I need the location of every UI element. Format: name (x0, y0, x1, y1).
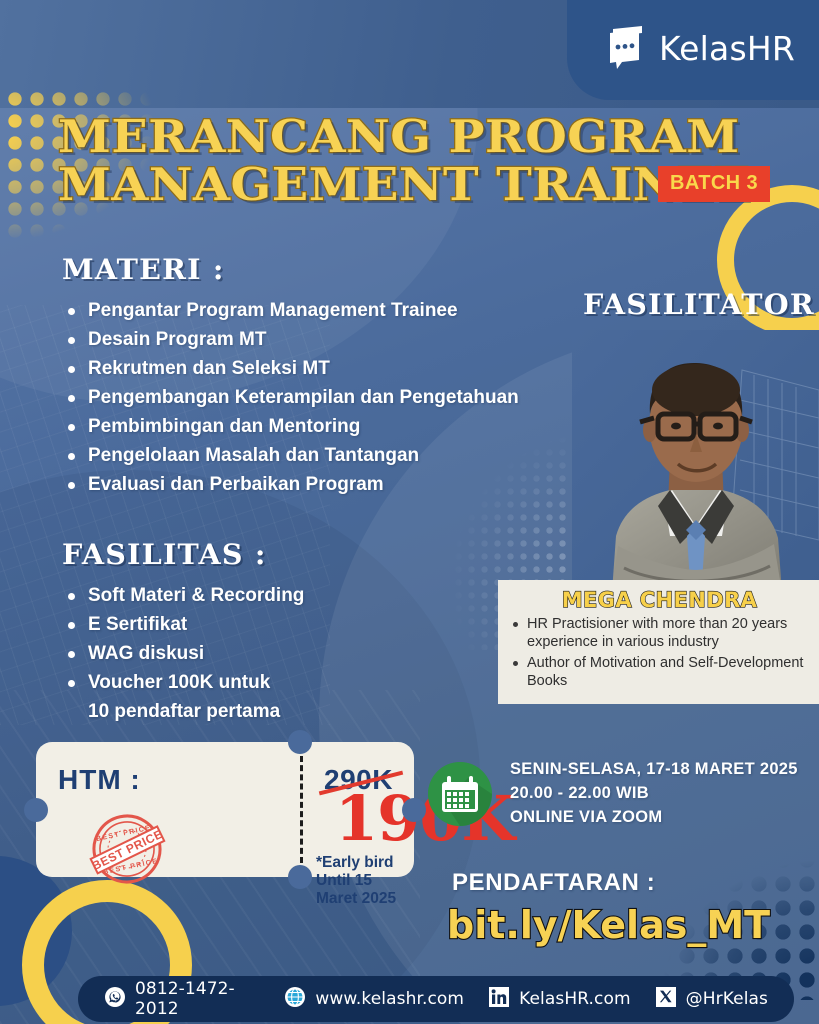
brand-logo: KelasHR (602, 24, 795, 72)
schedule-line: 20.00 - 22.00 WIB (510, 782, 798, 806)
list-item: Evaluasi dan Perbaikan Program (62, 472, 519, 499)
ticket-perforation (300, 756, 303, 863)
facilitator-bio-list: HR Practisioner with more than 20 years … (510, 615, 809, 690)
early-bird-note: *Early bird Until 15 Maret 2025 (316, 854, 414, 908)
contact-whatsapp[interactable]: 0812-1472-2012 (104, 979, 260, 1019)
x-twitter-icon (655, 986, 677, 1013)
list-item: Voucher 100K untuk (62, 670, 304, 697)
registration-url[interactable]: bit.ly/Kelas_MT (447, 903, 770, 947)
ticket-notch-bottom (288, 865, 312, 889)
price-ticket: HTM : 290K 190K *Early bird Until 15 Mar… (36, 742, 414, 877)
contact-linkedin[interactable]: KelasHR.com (488, 986, 631, 1013)
schedule-text: SENIN-SELASA, 17-18 MARET 2025 20.00 - 2… (510, 758, 798, 829)
facilitator-photo (572, 330, 819, 592)
batch-badge: BATCH 3 (658, 166, 770, 202)
schedule-line: ONLINE VIA ZOOM (510, 806, 798, 830)
list-item: Author of Motivation and Self-Developmen… (510, 654, 809, 691)
contact-website[interactable]: www.kelashr.com (284, 986, 464, 1013)
fasilitas-section: FASILITAS : Soft Materi & Recording E Se… (62, 538, 304, 728)
registration-label: PENDAFTARAN : (452, 869, 655, 897)
htm-label: HTM : (58, 764, 141, 796)
x-handle: @HrKelas (686, 989, 768, 1009)
contact-x[interactable]: @HrKelas (655, 986, 768, 1013)
facilitator-bio-card: MEGA CHENDRA HR Practisioner with more t… (498, 580, 819, 704)
linkedin-handle: KelasHR.com (519, 989, 631, 1009)
list-item: HR Practisioner with more than 20 years … (510, 615, 809, 652)
list-item-continuation: 10 pendaftar pertama (62, 699, 304, 726)
halftone-dots-bottom-right (579, 800, 819, 1000)
list-item: Pengantar Program Management Trainee (62, 298, 519, 325)
list-item: Soft Materi & Recording (62, 583, 304, 610)
ticket-notch-top (288, 730, 312, 754)
materi-heading: MATERI : (62, 253, 528, 286)
materi-section: MATERI : Pengantar Program Management Tr… (62, 253, 519, 501)
list-item: Pembimbingan dan Mentoring (62, 414, 519, 441)
event-poster: KelasHR MERANCANG PROGRAM MANAGEMENT TRA… (0, 0, 819, 1024)
list-item: Pengelolaan Masalah dan Tantangan (62, 443, 519, 470)
list-item: WAG diskusi (62, 641, 304, 668)
materi-list: Pengantar Program Management Trainee Des… (62, 298, 519, 499)
facilitator-name: MEGA CHENDRA (510, 588, 809, 612)
fasilitas-list: Soft Materi & Recording E Sertifikat WAG… (62, 583, 304, 726)
list-item: Desain Program MT (62, 327, 519, 354)
list-item: E Sertifikat (62, 612, 304, 639)
schedule-line: SENIN-SELASA, 17-18 MARET 2025 (510, 758, 798, 782)
fasilitas-heading: FASILITAS : (62, 538, 309, 571)
whatsapp-icon (104, 986, 126, 1013)
schedule-block: SENIN-SELASA, 17-18 MARET 2025 20.00 - 2… (428, 758, 798, 829)
whatsapp-number: 0812-1472-2012 (135, 979, 260, 1019)
globe-icon (284, 986, 306, 1013)
list-item: Pengembangan Keterampilan dan Pengetahua… (62, 385, 519, 412)
book-chat-icon (602, 24, 648, 72)
title-line-1: MERANCANG PROGRAM (58, 113, 819, 161)
best-price-stamp-icon: BEST PRICE BEST PRICE BEST PRICE (88, 810, 166, 888)
footer-contact-bar: 0812-1472-2012 www.kelashr.com (78, 976, 794, 1022)
website-url: www.kelashr.com (315, 989, 464, 1009)
linkedin-icon (488, 986, 510, 1013)
list-item: Rekrutmen dan Seleksi MT (62, 356, 519, 383)
calendar-icon (428, 762, 492, 826)
logo-text: KelasHR (659, 29, 795, 68)
